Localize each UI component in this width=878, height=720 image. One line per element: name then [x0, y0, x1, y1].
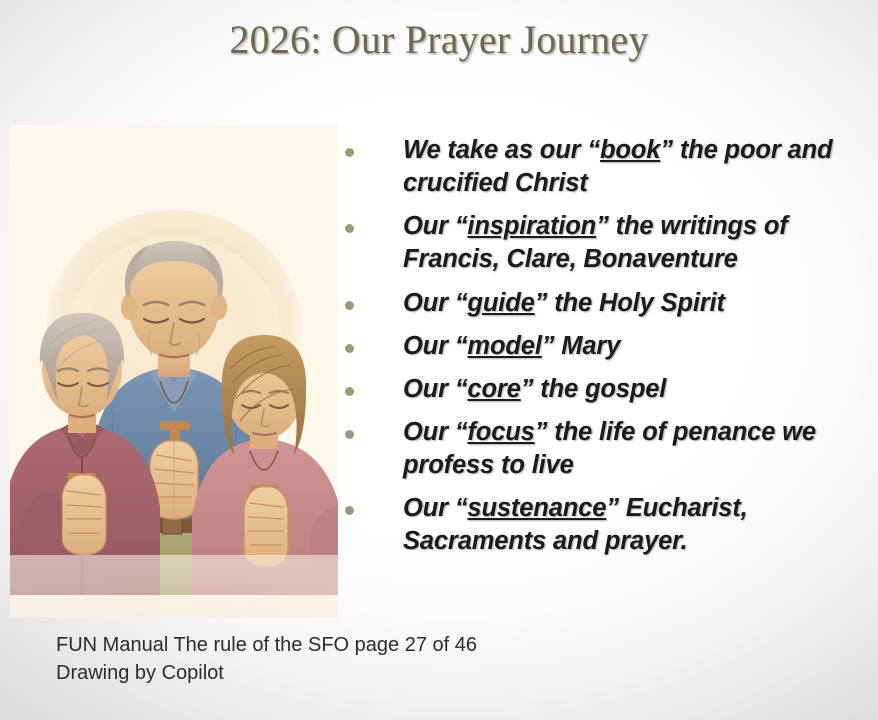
bullet-keyword: core	[467, 375, 520, 403]
bullet-post: ” the Holy Spirit	[535, 289, 725, 317]
list-item: Our “inspiration” the writings of Franci…	[340, 210, 868, 276]
slide-title: 2026: Our Prayer Journey	[0, 16, 878, 63]
list-item: Our “model” Mary	[340, 330, 868, 363]
presentation-slide: 2026: Our Prayer Journey	[0, 0, 878, 720]
caption-line-source: FUN Manual The rule of the SFO page 27 o…	[56, 631, 477, 659]
bullet-dot-icon	[345, 506, 354, 515]
list-item: Our “focus” the life of penance we profe…	[340, 416, 868, 482]
bullet-pre: Our “	[403, 212, 467, 240]
bullet-keyword: focus	[467, 418, 534, 446]
caption-line-credit: Drawing by Copilot	[56, 659, 477, 687]
bullet-text-guide: Our “guide” the Holy Spirit	[403, 287, 868, 320]
bullet-dot-icon	[345, 344, 354, 353]
bullet-dot-icon	[345, 301, 354, 310]
prayer-illustration	[10, 125, 338, 617]
bullet-keyword: book	[600, 136, 660, 164]
source-caption: FUN Manual The rule of the SFO page 27 o…	[56, 631, 477, 688]
bullet-keyword: model	[467, 332, 541, 360]
bullet-pre: Our “	[403, 418, 467, 446]
bullet-text-sustenance: Our “sustenance” Eucharist, Sacraments a…	[403, 492, 868, 558]
bullet-keyword: sustenance	[467, 494, 606, 522]
bullet-text-focus: Our “focus” the life of penance we profe…	[403, 416, 868, 482]
list-item: Our “guide” the Holy Spirit	[340, 287, 868, 320]
bullet-pre: We take as our “	[403, 136, 600, 164]
bullet-text-model: Our “model” Mary	[403, 330, 868, 363]
bullet-dot-icon	[345, 148, 354, 157]
bullet-pre: Our “	[403, 375, 467, 403]
bullet-post: ” Mary	[542, 332, 620, 360]
bullet-pre: Our “	[403, 332, 467, 360]
list-item: Our “core” the gospel	[340, 373, 868, 406]
bullet-dot-icon	[345, 430, 354, 439]
bullet-pre: Our “	[403, 289, 467, 317]
bullet-text-inspiration: Our “inspiration” the writings of Franci…	[403, 210, 868, 276]
list-item: We take as our “book” the poor and cruci…	[340, 134, 868, 200]
bullet-text-book: We take as our “book” the poor and cruci…	[403, 134, 868, 200]
bullet-keyword: inspiration	[467, 212, 596, 240]
bullet-dot-icon	[345, 224, 354, 233]
bullet-pre: Our “	[403, 494, 467, 522]
bullet-text-core: Our “core” the gospel	[403, 373, 868, 406]
bullet-dot-icon	[345, 387, 354, 396]
list-item: Our “sustenance” Eucharist, Sacraments a…	[340, 492, 868, 558]
bullet-keyword: guide	[467, 289, 534, 317]
bullet-post: ” the gospel	[521, 375, 667, 403]
prayer-illustration-artwork	[10, 125, 338, 617]
bullet-list: We take as our “book” the poor and cruci…	[340, 134, 868, 569]
